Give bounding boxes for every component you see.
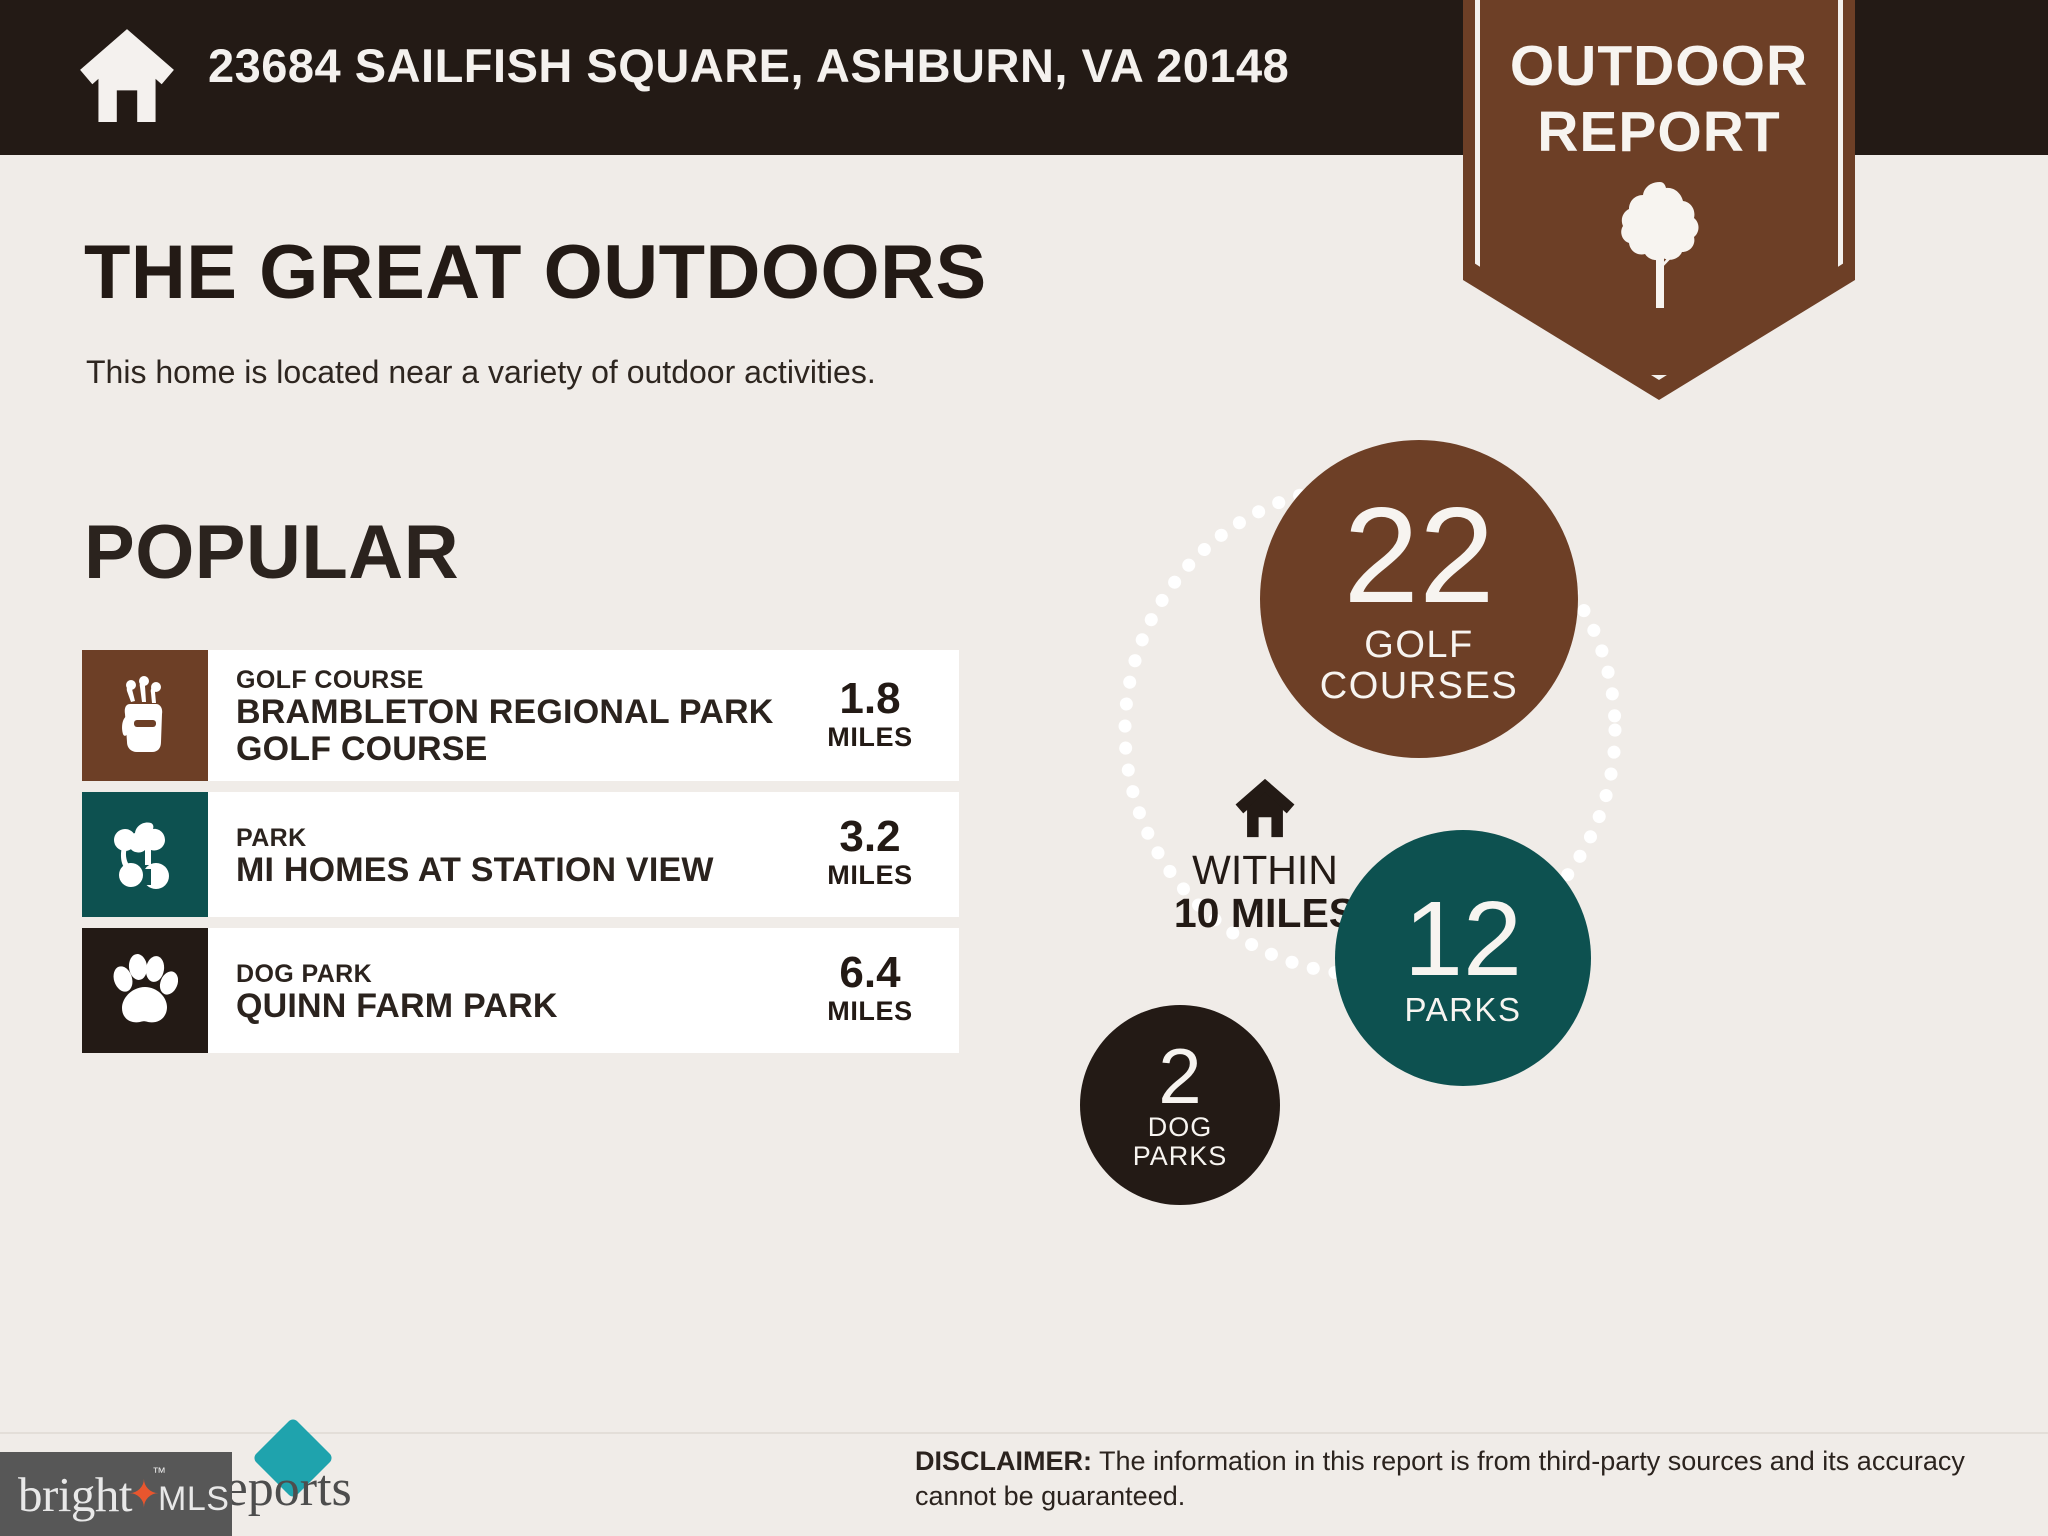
- poi-distance-value: 1.8: [839, 677, 900, 721]
- trademark-symbol: ™: [152, 1464, 166, 1480]
- poi-distance-value: 3.2: [839, 815, 900, 859]
- poi-name-line1: MI HOMES AT STATION VIEW: [236, 852, 795, 889]
- poi-text: DOG PARK QUINN FARM PARK: [208, 928, 795, 1053]
- stat-value: 12: [1404, 889, 1522, 990]
- list-item[interactable]: DOG PARK QUINN FARM PARK 6.4 MILES: [82, 928, 959, 1053]
- poi-name-line2: GOLF COURSE: [236, 731, 795, 768]
- badge-title-line2: REPORT: [1463, 104, 1855, 161]
- stat-label-line1: DOG: [1148, 1113, 1213, 1142]
- poi-distance-unit: MILES: [827, 995, 913, 1029]
- poi-distance-unit: MILES: [827, 859, 913, 893]
- stat-label-line1: PARKS: [1405, 992, 1522, 1028]
- popular-list: GOLF COURSE BRAMBLETON REGIONAL PARK GOL…: [82, 650, 959, 1064]
- stat-circle-parks[interactable]: 12 PARKS: [1335, 830, 1591, 1086]
- list-item[interactable]: PARK MI HOMES AT STATION VIEW 3.2 MILES: [82, 792, 959, 917]
- bright-mls-wordmark: bright: [18, 1466, 132, 1523]
- poi-name-line1: QUINN FARM PARK: [236, 988, 795, 1025]
- park-trees-icon: [109, 819, 181, 889]
- within-radius-diagram: WITHIN 10 MILES 22 GOLF COURSES 12 PARKS…: [1080, 440, 1960, 1320]
- poi-distance: 1.8 MILES: [795, 650, 959, 781]
- golf-bag-icon: [114, 676, 176, 754]
- bright-mls-logo: bright ✦ ™ MLS: [0, 1452, 232, 1536]
- tree-icon: [1617, 180, 1703, 310]
- house-icon: [76, 22, 178, 126]
- poi-distance-unit: MILES: [827, 721, 913, 755]
- poi-distance-value: 6.4: [839, 951, 900, 995]
- poi-text: GOLF COURSE BRAMBLETON REGIONAL PARK GOL…: [208, 650, 795, 781]
- poi-distance: 6.4 MILES: [795, 928, 959, 1053]
- stat-circle-dog-parks[interactable]: 2 DOG PARKS: [1080, 1005, 1280, 1205]
- poi-text: PARK MI HOMES AT STATION VIEW: [208, 792, 795, 917]
- property-address: 23684 SAILFISH SQUARE, ASHBURN, VA 20148: [208, 38, 1289, 93]
- page-title: THE GREAT OUTDOORS: [84, 235, 987, 311]
- poi-icon-tile: [82, 792, 208, 917]
- stat-circle-golf-courses[interactable]: 22 GOLF COURSES: [1260, 440, 1578, 758]
- poi-icon-tile: [82, 928, 208, 1053]
- outdoor-report-page: 23684 SAILFISH SQUARE, ASHBURN, VA 20148…: [0, 0, 2048, 1536]
- badge-title-line1: OUTDOOR: [1463, 38, 1855, 95]
- poi-distance: 3.2 MILES: [795, 792, 959, 917]
- disclaimer: DISCLAIMER: The information in this repo…: [915, 1444, 1975, 1513]
- disclaimer-label: DISCLAIMER:: [915, 1446, 1092, 1476]
- poi-category: PARK: [236, 824, 795, 852]
- stat-label-line2: COURSES: [1320, 666, 1518, 707]
- stat-label-line1: GOLF: [1364, 625, 1473, 666]
- list-item[interactable]: GOLF COURSE BRAMBLETON REGIONAL PARK GOL…: [82, 650, 959, 781]
- mls-label: MLS: [158, 1480, 229, 1519]
- poi-category: GOLF COURSE: [236, 666, 795, 694]
- stat-value: 2: [1158, 1039, 1201, 1113]
- stat-value: 22: [1343, 491, 1494, 620]
- poi-category: DOG PARK: [236, 960, 795, 988]
- poi-name-line1: BRAMBLETON REGIONAL PARK: [236, 694, 795, 731]
- page-subtitle: This home is located near a variety of o…: [86, 355, 876, 390]
- star-icon: ✦: [128, 1480, 158, 1510]
- outdoor-report-badge: OUTDOOR REPORT: [1463, 0, 1855, 400]
- house-icon: [1232, 775, 1298, 839]
- reports-logo: Reports: [190, 1425, 530, 1535]
- stat-label-line2: PARKS: [1133, 1142, 1228, 1171]
- popular-heading: POPULAR: [84, 515, 459, 591]
- paw-print-icon: [112, 954, 178, 1026]
- poi-icon-tile: [82, 650, 208, 781]
